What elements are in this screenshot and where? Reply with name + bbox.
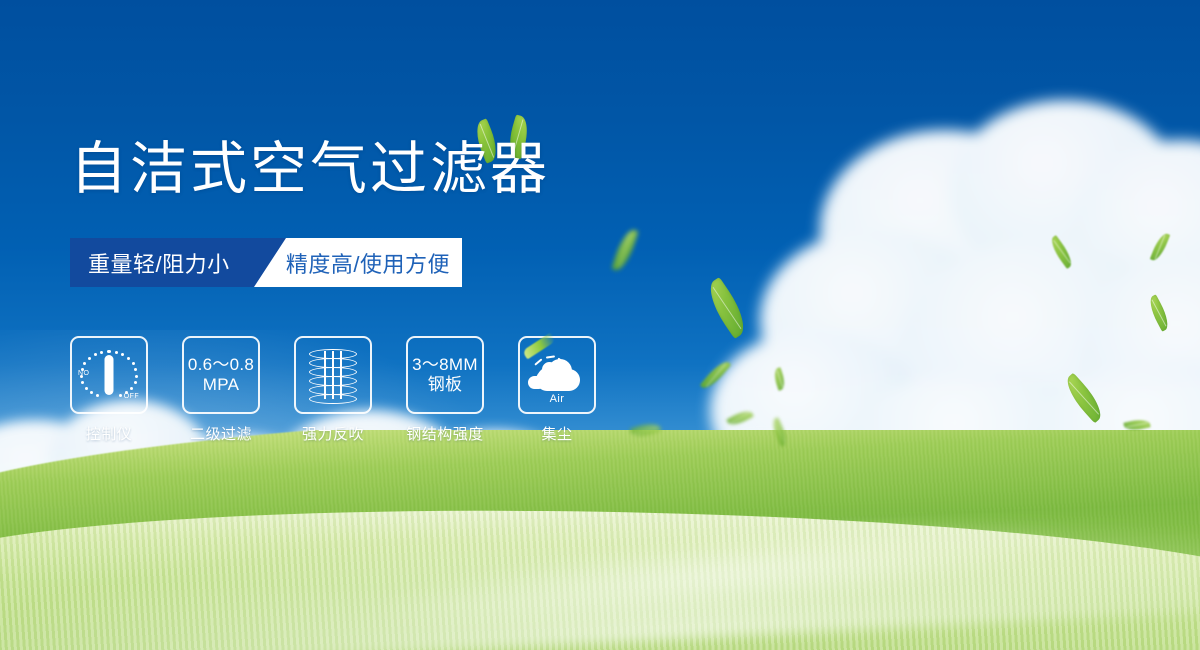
pressure-line-1: 0.6〜0.8 — [188, 355, 254, 375]
feature-icon-box: 0.6〜0.8 MPA — [182, 336, 260, 414]
feature-label: 集尘 — [541, 423, 572, 444]
pressure-text-icon: 0.6〜0.8 MPA — [188, 355, 254, 395]
subtitle-badge: 重量轻/阻力小 精度高/使用方便 — [70, 238, 462, 287]
feature-label: 控制仪 — [86, 423, 133, 444]
air-cloud-icon: Air — [526, 347, 588, 403]
badge-right-section: 精度高/使用方便 — [286, 238, 462, 287]
feature-icon-box: NO OFF — [70, 336, 148, 414]
feature-label: 二级过滤 — [190, 423, 252, 444]
gauge-label-no: NO — [78, 370, 89, 377]
feature-icon-box: Air — [518, 336, 596, 414]
badge-diagonal-divider — [254, 238, 286, 287]
cloud-body — [536, 369, 580, 391]
feature-icon-box: 3〜8MM 钢板 — [406, 336, 484, 414]
feature-icon-box — [294, 336, 372, 414]
feature-label: 强力反吹 — [302, 423, 364, 444]
air-label: Air — [526, 393, 588, 405]
steel-line-2: 钢板 — [412, 375, 478, 395]
filter-coil-icon — [307, 347, 359, 403]
feature-item-steel-plate[interactable]: 3〜8MM 钢板 钢结构强度 — [406, 336, 484, 444]
grass-field — [0, 430, 1200, 650]
pressure-line-2: MPA — [188, 375, 254, 395]
feature-list: NO OFF 控制仪 0.6〜0.8 MPA 二级过滤 — [70, 336, 596, 444]
gauge-icon: NO OFF — [78, 346, 140, 404]
gauge-label-off: OFF — [124, 393, 139, 400]
product-banner: 自洁式空气过滤器 重量轻/阻力小 精度高/使用方便 — [0, 0, 1200, 650]
badge-right-label: 精度高/使用方便 — [286, 247, 450, 279]
gauge-needle — [105, 355, 114, 395]
feature-item-dust-collection[interactable]: Air 集尘 — [518, 336, 596, 444]
feature-item-backflush[interactable]: 强力反吹 — [294, 336, 372, 444]
badge-left-label: 重量轻/阻力小 — [88, 247, 230, 279]
feature-item-pressure[interactable]: 0.6〜0.8 MPA 二级过滤 — [182, 336, 260, 444]
steel-line-1: 3〜8MM — [412, 355, 478, 375]
steel-plate-text-icon: 3〜8MM 钢板 — [412, 355, 478, 395]
feature-label: 钢结构强度 — [406, 423, 484, 444]
badge-left-section: 重量轻/阻力小 — [70, 238, 254, 287]
page-title: 自洁式空气过滤器 — [70, 140, 550, 200]
feature-item-control-gauge[interactable]: NO OFF 控制仪 — [70, 336, 148, 444]
